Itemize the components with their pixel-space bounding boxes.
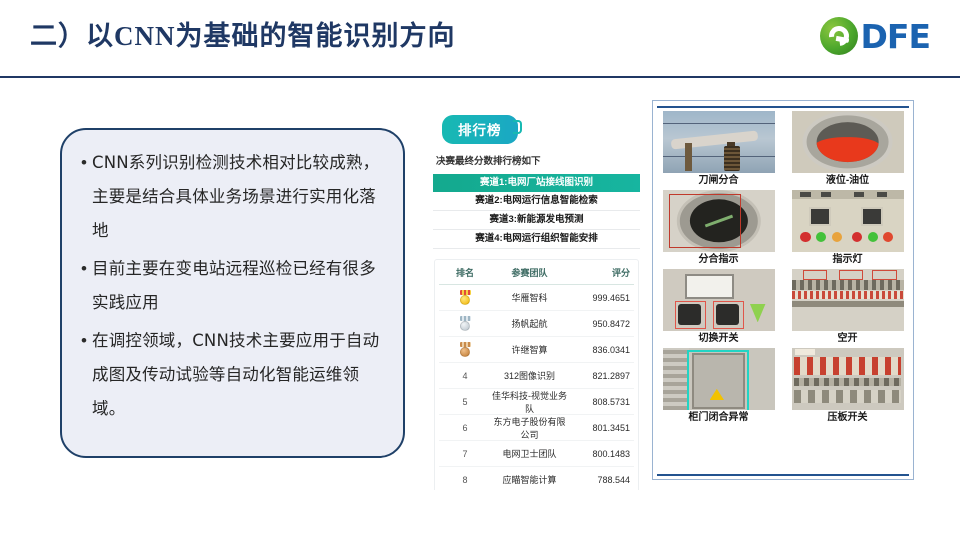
cabinet-door-photo [663, 348, 775, 410]
bullet-marker: • [76, 146, 92, 180]
table-row: 8 应瞄智能计算 788.544 [439, 467, 634, 490]
photo-panel: 刀闸分合 液位-油位 分合指示 指 [652, 100, 914, 480]
team-cell: 电网卫士团队 [491, 447, 568, 460]
bullet-text: CNN系列识别检测技术相对比较成熟，主要是结合具体业务场景进行实用化落地 [92, 146, 385, 248]
team-cell: 312图像识别 [491, 369, 568, 382]
photo-caption: 指示灯 [833, 254, 863, 266]
score-cell: 800.1483 [568, 449, 634, 459]
rank-cell: 6 [439, 423, 491, 433]
team-cell: 许继智算 [491, 343, 568, 356]
score-cell: 999.4651 [568, 293, 634, 303]
rank-cell [439, 290, 491, 305]
photo-caption: 分合指示 [699, 254, 739, 266]
score-cell: 801.3451 [568, 423, 634, 433]
score-cell: 836.0341 [568, 345, 634, 355]
track-item-2[interactable]: 赛道2:电网运行信息智能检索 [433, 192, 640, 211]
gold-medal-icon [459, 290, 472, 305]
air-breaker-photo [792, 269, 904, 331]
rank-cell: 7 [439, 449, 491, 459]
bullet-marker: • [76, 324, 92, 358]
team-cell: 佳华科技-视觉业务队 [491, 389, 568, 415]
team-cell: 华雁智科 [491, 291, 568, 304]
column-header-team: 参赛团队 [491, 266, 568, 279]
team-cell: 扬帆起航 [491, 317, 568, 330]
photo-cell-cabinet-door: 柜门闭合异常 [659, 348, 778, 424]
title-divider [0, 76, 960, 78]
table-row: 扬帆起航 950.8472 [439, 311, 634, 337]
photo-cell-knife-switch: 刀闸分合 [659, 111, 778, 187]
score-cell: 821.2897 [568, 371, 634, 381]
ranking-badge: 排行榜 [442, 115, 518, 144]
table-row: 7 电网卫士团队 800.1483 [439, 441, 634, 467]
transfer-switch-photo [663, 269, 775, 331]
photo-grid: 刀闸分合 液位-油位 分合指示 指 [659, 111, 907, 424]
open-close-indicator-photo [663, 190, 775, 252]
team-cell: 东方电子股份有限公司 [491, 415, 568, 441]
page-title: 二）以CNN为基础的智能识别方向 [30, 14, 456, 53]
table-row: 华雁智科 999.4651 [439, 285, 634, 311]
rank-cell [439, 342, 491, 357]
list-item: • 在调控领域，CNN技术主要应用于自动成图及传动试验等自动化智能运维领域。 [76, 324, 385, 426]
track-list: 赛道1:电网厂站接线图识别 赛道2:电网运行信息智能检索 赛道3:新能源发电预测… [433, 174, 640, 249]
table-row: 6 东方电子股份有限公司 801.3451 [439, 415, 634, 441]
pressure-plate-photo [792, 348, 904, 410]
ranking-table: 排名 参赛团队 评分 华雁智科 999.4651 扬帆起航 950.8472 许… [434, 259, 639, 490]
photo-caption: 空开 [838, 333, 858, 345]
photo-cell-transfer-switch: 切换开关 [659, 269, 778, 345]
track-item-4[interactable]: 赛道4:电网运行组织智能安排 [433, 230, 640, 249]
oil-level-photo [792, 111, 904, 173]
score-cell: 788.544 [568, 475, 634, 485]
ranking-panel: 排行榜 决赛最终分数排行榜如下 赛道1:电网厂站接线图识别 赛道2:电网运行信息… [428, 105, 645, 490]
silver-medal-icon [459, 316, 472, 331]
photo-cell-oil-level: 液位-油位 [788, 111, 907, 187]
indicator-lamp-photo [792, 190, 904, 252]
photo-caption: 柜门闭合异常 [689, 412, 749, 424]
track-item-3[interactable]: 赛道3:新能源发电预测 [433, 211, 640, 230]
photo-cell-indicator-lamp: 指示灯 [788, 190, 907, 266]
bronze-medal-icon [459, 342, 472, 357]
list-item: • 目前主要在变电站远程巡检已经有很多实践应用 [76, 252, 385, 320]
brand-name: DFE [861, 20, 930, 53]
score-cell: 950.8472 [568, 319, 634, 329]
score-cell: 808.5731 [568, 397, 634, 407]
rank-cell: 8 [439, 475, 491, 485]
column-header-rank: 排名 [439, 266, 491, 279]
bullet-card: • CNN系列识别检测技术相对比较成熟，主要是结合具体业务场景进行实用化落地 •… [60, 128, 405, 458]
photo-caption: 切换开关 [699, 333, 739, 345]
ranking-subtitle: 决赛最终分数排行榜如下 [436, 153, 645, 167]
table-row: 许继智算 836.0341 [439, 337, 634, 363]
photo-cell-pressure-plate: 压板开关 [788, 348, 907, 424]
photo-caption: 压板开关 [828, 412, 868, 424]
table-row: 5 佳华科技-视觉业务队 808.5731 [439, 389, 634, 415]
photo-cell-open-close-indicator: 分合指示 [659, 190, 778, 266]
bullet-text: 目前主要在变电站远程巡检已经有很多实践应用 [92, 252, 385, 320]
list-item: • CNN系列识别检测技术相对比较成熟，主要是结合具体业务场景进行实用化落地 [76, 146, 385, 248]
column-header-score: 评分 [568, 266, 634, 279]
bullet-marker: • [76, 252, 92, 286]
brand-logo: DFE [820, 17, 930, 55]
table-header-row: 排名 参赛团队 评分 [439, 260, 634, 285]
rank-cell: 4 [439, 371, 491, 381]
photo-cell-air-breaker: 空开 [788, 269, 907, 345]
photo-caption: 液位-油位 [826, 175, 869, 187]
table-row: 4 312图像识别 821.2897 [439, 363, 634, 389]
photo-caption: 刀闸分合 [699, 175, 739, 187]
rank-cell [439, 316, 491, 331]
bullet-text: 在调控领域，CNN技术主要应用于自动成图及传动试验等自动化智能运维领域。 [92, 324, 385, 426]
rank-cell: 5 [439, 397, 491, 407]
track-item-1[interactable]: 赛道1:电网厂站接线图识别 [433, 174, 640, 192]
team-cell: 应瞄智能计算 [491, 473, 568, 486]
disconnector-photo [663, 111, 775, 173]
green-e-logo-icon [820, 17, 858, 55]
